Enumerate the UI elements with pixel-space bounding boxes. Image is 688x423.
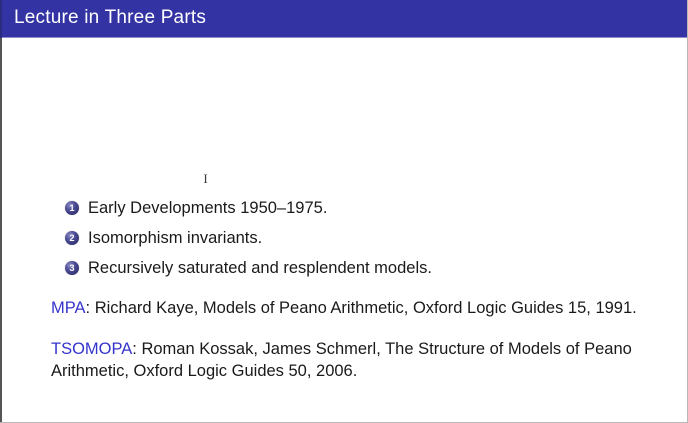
numbered-bullet-icon: 2 [65,231,79,245]
slide-title-bar: Lecture in Three Parts [0,0,688,38]
list-item-label: Early Developments 1950–1975. [88,197,327,219]
presentation-slide: Lecture in Three Parts I 1 Early Develop… [0,0,688,423]
numbered-bullet-icon: 1 [65,201,79,215]
list-item: 3 Recursively saturated and resplendent … [65,257,645,285]
reference-entry: MPA: Richard Kaye, Models of Peano Arith… [51,297,641,320]
text-cursor-icon: I [201,172,210,186]
slide-body: I 1 Early Developments 1950–1975. 2 Isom… [2,39,687,422]
list-item-label: Recursively saturated and resplendent mo… [88,257,432,279]
numbered-bullet-icon: 3 [65,261,79,275]
list-item: 2 Isomorphism invariants. [65,227,645,255]
reference-key: MPA [51,299,86,317]
list-item: 1 Early Developments 1950–1975. [65,197,645,225]
reference-citation: Richard Kaye, Models of Peano Arithmetic… [95,299,637,317]
reference-list: MPA: Richard Kaye, Models of Peano Arith… [51,297,651,401]
reference-entry: TSOMOPA: Roman Kossak, James Schmerl, Th… [51,338,641,383]
list-item-label: Isomorphism invariants. [88,227,262,249]
title-bar-left-edge [0,0,2,38]
numbered-bullet-list: 1 Early Developments 1950–1975. 2 Isomor… [65,197,645,287]
slide-title: Lecture in Three Parts [14,7,206,29]
reference-separator: : [86,299,95,317]
reference-key: TSOMOPA [51,340,132,358]
